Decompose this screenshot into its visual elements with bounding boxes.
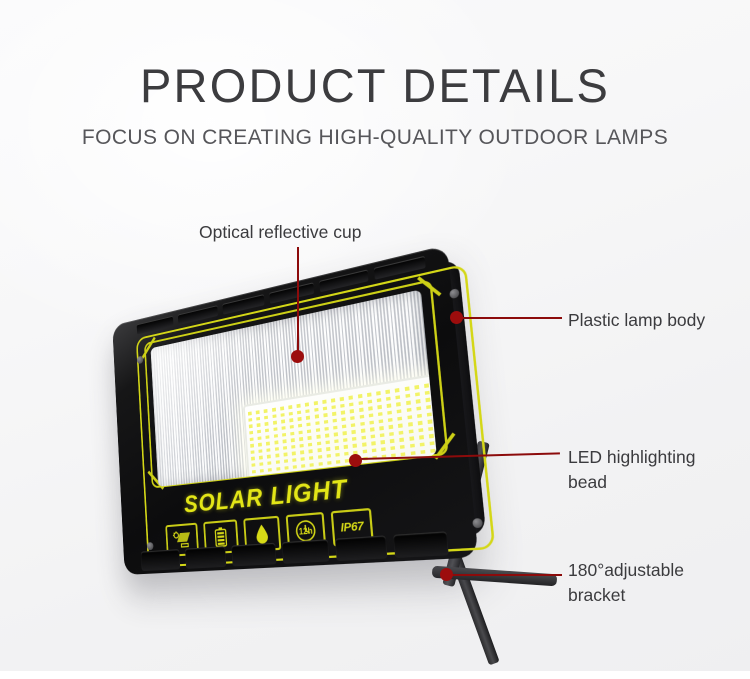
leader-dot-adjustable-bracket bbox=[440, 568, 453, 581]
leader-dot-led-highlighting-bead bbox=[349, 454, 362, 467]
leader-dot-plastic-lamp-body bbox=[450, 311, 463, 324]
ip67-label: IP67 bbox=[340, 520, 364, 535]
callout-label-plastic-lamp-body: Plastic lamp body bbox=[568, 308, 705, 333]
page-subtitle: FOCUS ON CREATING HIGH-QUALITY OUTDOOR L… bbox=[0, 126, 750, 150]
vent bbox=[281, 539, 329, 564]
lamp-body: SOLAR LIGHT bbox=[97, 228, 506, 597]
vent bbox=[185, 546, 227, 569]
callout-label-adjustable-bracket: 180°adjustable bracket bbox=[568, 558, 684, 608]
product-detail-image: PRODUCT DETAILS FOCUS ON CREATING HIGH-Q… bbox=[0, 0, 750, 679]
svg-text:12h: 12h bbox=[299, 526, 313, 537]
leader-line-plastic-lamp-body bbox=[462, 317, 562, 319]
callout-line-1: 180°adjustable bbox=[568, 558, 684, 583]
page-title: PRODUCT DETAILS bbox=[0, 58, 750, 113]
callout-label-optical-reflective-cup: Optical reflective cup bbox=[199, 220, 361, 245]
leader-line-optical-reflective-cup bbox=[297, 247, 299, 353]
vent bbox=[335, 535, 387, 561]
callout-line-1: LED highlighting bbox=[568, 445, 695, 470]
leader-line-adjustable-bracket bbox=[452, 574, 562, 576]
leader-dot-optical-reflective-cup bbox=[291, 350, 304, 363]
bottom-white-strip bbox=[0, 671, 750, 679]
lamp-shell: SOLAR LIGHT bbox=[112, 245, 478, 575]
callout-line-2: bracket bbox=[568, 583, 684, 608]
vent bbox=[231, 543, 276, 567]
vent bbox=[141, 549, 180, 571]
callout-line-2: bead bbox=[568, 470, 695, 495]
callout-label-led-highlighting-bead: LED highlighting bead bbox=[568, 445, 695, 495]
vent bbox=[393, 531, 449, 558]
solar-flood-light-product: SOLAR LIGHT bbox=[80, 292, 550, 622]
